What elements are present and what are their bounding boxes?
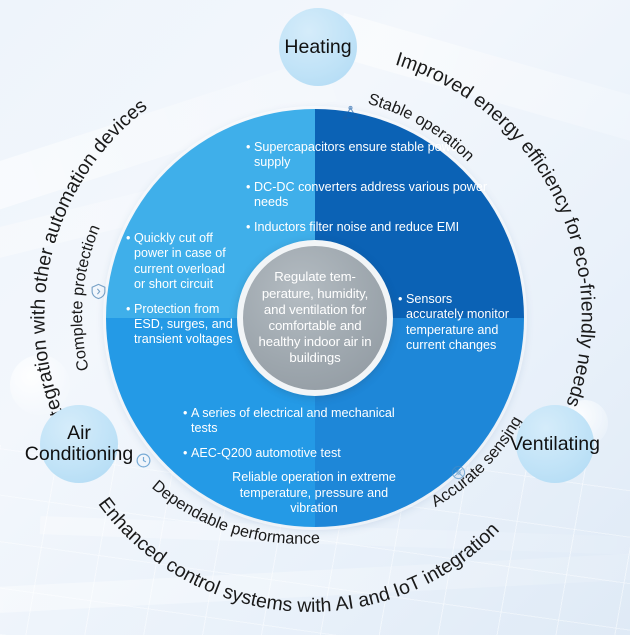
quadrant-text-top-right: •Supercapacitors ensure stable power sup…: [246, 140, 496, 244]
node-air-conditioning[interactable]: Air Conditioning: [40, 405, 118, 483]
center-circle[interactable]: Regulate tem- perature, humidity, and ve…: [237, 240, 393, 396]
bullet-text: DC-DC converters address various power n…: [254, 180, 496, 211]
node-heating-label: Heating: [279, 37, 357, 58]
node-heating[interactable]: Heating: [279, 8, 357, 86]
bullet-text: Quickly cut off power in case of current…: [134, 231, 236, 293]
bullet-text: Protection from ESD, surges, and transie…: [134, 302, 236, 348]
bullet-dot-icon: •: [126, 231, 134, 293]
bullet-item: Reliable operation in extreme temperatur…: [183, 470, 411, 516]
node-ventilating-label: Ventilating: [510, 434, 600, 455]
clock-badge-icon: [135, 452, 152, 469]
center-statement: Regulate tem- perature, humidity, and ve…: [255, 269, 376, 366]
bullet-item: •Quickly cut off power in case of curren…: [126, 231, 236, 293]
node-air-conditioning-label: Air Conditioning: [25, 423, 133, 465]
quadrant-text-top-left: •Quickly cut off power in case of curren…: [126, 231, 236, 357]
shield-icon: [90, 283, 107, 300]
bullet-item: •Sensors accurately monitor temperature …: [398, 292, 510, 354]
bullet-dot-icon: •: [183, 406, 191, 437]
bullet-item: •Supercapacitors ensure stable power sup…: [246, 140, 496, 171]
bullet-text: Sensors accurately monitor temperature a…: [406, 292, 510, 354]
bullet-text: Inductors filter noise and reduce EMI: [254, 220, 496, 235]
bullet-item: •AEC-Q200 automotive test: [183, 446, 411, 461]
bullet-item: •DC-DC converters address various power …: [246, 180, 496, 211]
bullet-item: •Protection from ESD, surges, and transi…: [126, 302, 236, 348]
bullet-dot-icon: •: [246, 180, 254, 211]
quadrant-text-bottom-left: •A series of electrical and mechanical t…: [183, 406, 411, 516]
quadrant-text-bottom-right: •Sensors accurately monitor temperature …: [398, 292, 510, 363]
infographic-canvas: •Supercapacitors ensure stable power sup…: [0, 0, 630, 635]
bullet-text: A series of electrical and mechanical te…: [191, 406, 411, 437]
bullet-dot-icon: •: [398, 292, 406, 354]
bullet-item: •Inductors filter noise and reduce EMI: [246, 220, 496, 235]
network-triangle-icon: [342, 105, 359, 122]
sensor-target-icon: [450, 464, 467, 481]
bullet-text: AEC-Q200 automotive test: [191, 446, 411, 461]
bullet-dot-icon: •: [183, 446, 191, 461]
bullet-item: •A series of electrical and mechanical t…: [183, 406, 411, 437]
bullet-dot-icon: •: [126, 302, 134, 348]
bullet-text: Supercapacitors ensure stable power supp…: [254, 140, 496, 171]
bullet-dot-icon: •: [246, 220, 254, 235]
bullet-dot-icon: •: [246, 140, 254, 171]
node-ventilating[interactable]: Ventilating: [516, 405, 594, 483]
bullet-text: Reliable operation in extreme temperatur…: [217, 470, 411, 516]
